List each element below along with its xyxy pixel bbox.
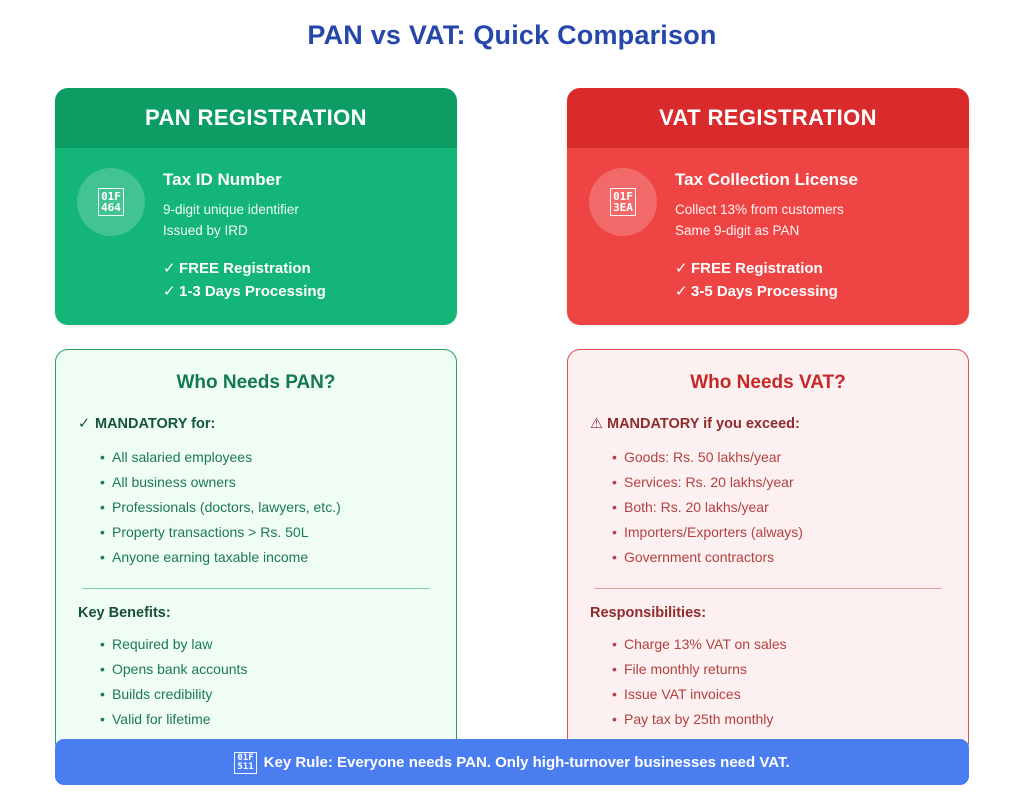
bullet-icon: • xyxy=(612,445,624,470)
list-item: •Property transactions > Rs. 50L xyxy=(100,520,434,545)
list-item-label: Government contractors xyxy=(624,549,774,565)
pan-hero-checks: ✓FREE Registration ✓1-3 Days Processing xyxy=(163,257,435,303)
pan-hero-check-2: ✓1-3 Days Processing xyxy=(163,280,435,303)
pan-panel-divider xyxy=(82,588,430,589)
list-item-label: Pay tax by 25th monthly xyxy=(624,711,773,727)
vat-mandatory-heading: ⚠MANDATORY if you exceed: xyxy=(590,416,946,432)
pan-hero-check-1: ✓FREE Registration xyxy=(163,257,435,280)
vat-hero-card: VAT REGISTRATION 01F 3EA Tax Collection … xyxy=(567,88,969,325)
list-item-label: All business owners xyxy=(112,474,236,490)
bullet-icon: • xyxy=(612,657,624,682)
vat-hero-check-2-label: 3-5 Days Processing xyxy=(691,283,838,300)
bullet-icon: • xyxy=(612,682,624,707)
list-item-label: Services: Rs. 20 lakhs/year xyxy=(624,474,794,490)
list-item-label: Valid for lifetime xyxy=(112,711,211,727)
bullet-icon: • xyxy=(100,632,112,657)
vat-panel-title: Who Needs VAT? xyxy=(590,372,946,394)
pan-benefits-heading: Key Benefits: xyxy=(78,605,434,621)
bullet-icon: • xyxy=(612,707,624,732)
list-item: •Required by law xyxy=(100,632,434,657)
list-item: •All business owners xyxy=(100,470,434,495)
check-icon: ✓ xyxy=(163,257,179,280)
pan-hero-note-1: 9-digit unique identifier xyxy=(163,199,435,220)
pan-hero-card: PAN REGISTRATION 01F 464 Tax ID Number 9… xyxy=(55,88,457,325)
list-item-label: Importers/Exporters (always) xyxy=(624,524,803,540)
bullet-icon: • xyxy=(612,470,624,495)
vat-mandatory-heading-label: MANDATORY if you exceed: xyxy=(607,416,800,432)
warning-triangle-icon: ⚠ xyxy=(590,416,607,432)
list-item-label: Anyone earning taxable income xyxy=(112,549,308,565)
vat-threshold-list: •Goods: Rs. 50 lakhs/year •Services: Rs.… xyxy=(612,445,946,570)
key-icon: 01F 511 xyxy=(234,752,256,774)
comparison-infographic: PAN vs VAT: Quick Comparison PAN REGISTR… xyxy=(0,0,1024,796)
pan-details-panel: Who Needs PAN? ✓MANDATORY for: •All sala… xyxy=(55,349,457,755)
pan-mandatory-list: •All salaried employees •All business ow… xyxy=(100,445,434,570)
pan-hero-header: PAN REGISTRATION xyxy=(55,88,457,148)
vat-hero-note-2: Same 9-digit as PAN xyxy=(675,220,947,241)
list-item: •File monthly returns xyxy=(612,657,946,682)
list-item-label: Charge 13% VAT on sales xyxy=(624,636,787,652)
bullet-icon: • xyxy=(612,545,624,570)
vat-hero-text: Tax Collection License Collect 13% from … xyxy=(675,168,947,303)
list-item: •Valid for lifetime xyxy=(100,707,434,732)
comparison-columns: PAN REGISTRATION 01F 464 Tax ID Number 9… xyxy=(55,88,969,755)
pan-mandatory-heading-label: MANDATORY for: xyxy=(95,416,215,432)
vat-hero-check-1-label: FREE Registration xyxy=(691,260,823,277)
list-item: •Pay tax by 25th monthly xyxy=(612,707,946,732)
list-item: •Government contractors xyxy=(612,545,946,570)
list-item: •Services: Rs. 20 lakhs/year xyxy=(612,470,946,495)
bullet-icon: • xyxy=(100,470,112,495)
vat-column: VAT REGISTRATION 01F 3EA Tax Collection … xyxy=(567,88,969,755)
vat-responsibilities-list: •Charge 13% VAT on sales •File monthly r… xyxy=(612,632,946,732)
bullet-icon: • xyxy=(100,545,112,570)
list-item: •Opens bank accounts xyxy=(100,657,434,682)
page-title: PAN vs VAT: Quick Comparison xyxy=(0,20,1024,51)
vat-hero-subtitle: Tax Collection License xyxy=(675,170,947,190)
tofu-line-bottom: 464 xyxy=(101,202,121,213)
vat-hero-body: 01F 3EA Tax Collection License Collect 1… xyxy=(567,148,969,325)
check-icon: ✓ xyxy=(78,416,95,432)
pan-hero-body: 01F 464 Tax ID Number 9-digit unique ide… xyxy=(55,148,457,325)
check-icon: ✓ xyxy=(675,257,691,280)
list-item-label: File monthly returns xyxy=(624,661,747,677)
bullet-icon: • xyxy=(100,657,112,682)
list-item: •All salaried employees xyxy=(100,445,434,470)
bullet-icon: • xyxy=(612,495,624,520)
tofu-line-bottom: 511 xyxy=(237,763,253,772)
check-icon: ✓ xyxy=(163,280,179,303)
pan-hero-text: Tax ID Number 9-digit unique identifier … xyxy=(163,168,435,303)
list-item-label: Required by law xyxy=(112,636,212,652)
vat-details-panel: Who Needs VAT? ⚠MANDATORY if you exceed:… xyxy=(567,349,969,755)
pan-hero-note-2: Issued by IRD xyxy=(163,220,435,241)
list-item-label: Both: Rs. 20 lakhs/year xyxy=(624,499,769,515)
list-item: •Charge 13% VAT on sales xyxy=(612,632,946,657)
vat-hero-note-1: Collect 13% from customers xyxy=(675,199,947,220)
vat-hero-check-1: ✓FREE Registration xyxy=(675,257,947,280)
bullet-icon: • xyxy=(100,520,112,545)
list-item: •Importers/Exporters (always) xyxy=(612,520,946,545)
list-item: •Anyone earning taxable income xyxy=(100,545,434,570)
key-rule-banner: 01F 511 Key Rule: Everyone needs PAN. On… xyxy=(55,739,969,785)
bullet-icon: • xyxy=(100,445,112,470)
pan-hero-check-1-label: FREE Registration xyxy=(179,260,311,277)
bust-in-silhouette-icon: 01F 464 xyxy=(98,188,124,216)
pan-hero-check-2-label: 1-3 Days Processing xyxy=(179,283,326,300)
list-item-label: Goods: Rs. 50 lakhs/year xyxy=(624,449,781,465)
list-item: •Goods: Rs. 50 lakhs/year xyxy=(612,445,946,470)
pan-panel-title: Who Needs PAN? xyxy=(78,372,434,394)
pan-benefits-list: •Required by law •Opens bank accounts •B… xyxy=(100,632,434,732)
list-item: •Both: Rs. 20 lakhs/year xyxy=(612,495,946,520)
list-item: •Professionals (doctors, lawyers, etc.) xyxy=(100,495,434,520)
pan-mandatory-heading: ✓MANDATORY for: xyxy=(78,416,434,432)
check-icon: ✓ xyxy=(675,280,691,303)
pan-hero-icon-circle: 01F 464 xyxy=(77,168,145,236)
list-item-label: Issue VAT invoices xyxy=(624,686,741,702)
list-item-label: Property transactions > Rs. 50L xyxy=(112,524,309,540)
list-item-label: Professionals (doctors, lawyers, etc.) xyxy=(112,499,341,515)
vat-hero-check-2: ✓3-5 Days Processing xyxy=(675,280,947,303)
bullet-icon: • xyxy=(612,632,624,657)
vat-panel-divider xyxy=(594,588,942,589)
convenience-store-icon: 01F 3EA xyxy=(610,188,636,216)
bullet-icon: • xyxy=(100,682,112,707)
list-item-label: All salaried employees xyxy=(112,449,252,465)
key-rule-text: Key Rule: Everyone needs PAN. Only high-… xyxy=(264,754,790,771)
vat-hero-header: VAT REGISTRATION xyxy=(567,88,969,148)
bullet-icon: • xyxy=(100,707,112,732)
list-item-label: Opens bank accounts xyxy=(112,661,247,677)
tofu-line-bottom: 3EA xyxy=(613,202,633,213)
pan-hero-subtitle: Tax ID Number xyxy=(163,170,435,190)
list-item: •Builds credibility xyxy=(100,682,434,707)
vat-hero-checks: ✓FREE Registration ✓3-5 Days Processing xyxy=(675,257,947,303)
list-item-label: Builds credibility xyxy=(112,686,212,702)
bullet-icon: • xyxy=(100,495,112,520)
vat-hero-icon-circle: 01F 3EA xyxy=(589,168,657,236)
list-item: •Issue VAT invoices xyxy=(612,682,946,707)
vat-responsibilities-heading: Responsibilities: xyxy=(590,605,946,621)
bullet-icon: • xyxy=(612,520,624,545)
pan-column: PAN REGISTRATION 01F 464 Tax ID Number 9… xyxy=(55,88,457,755)
